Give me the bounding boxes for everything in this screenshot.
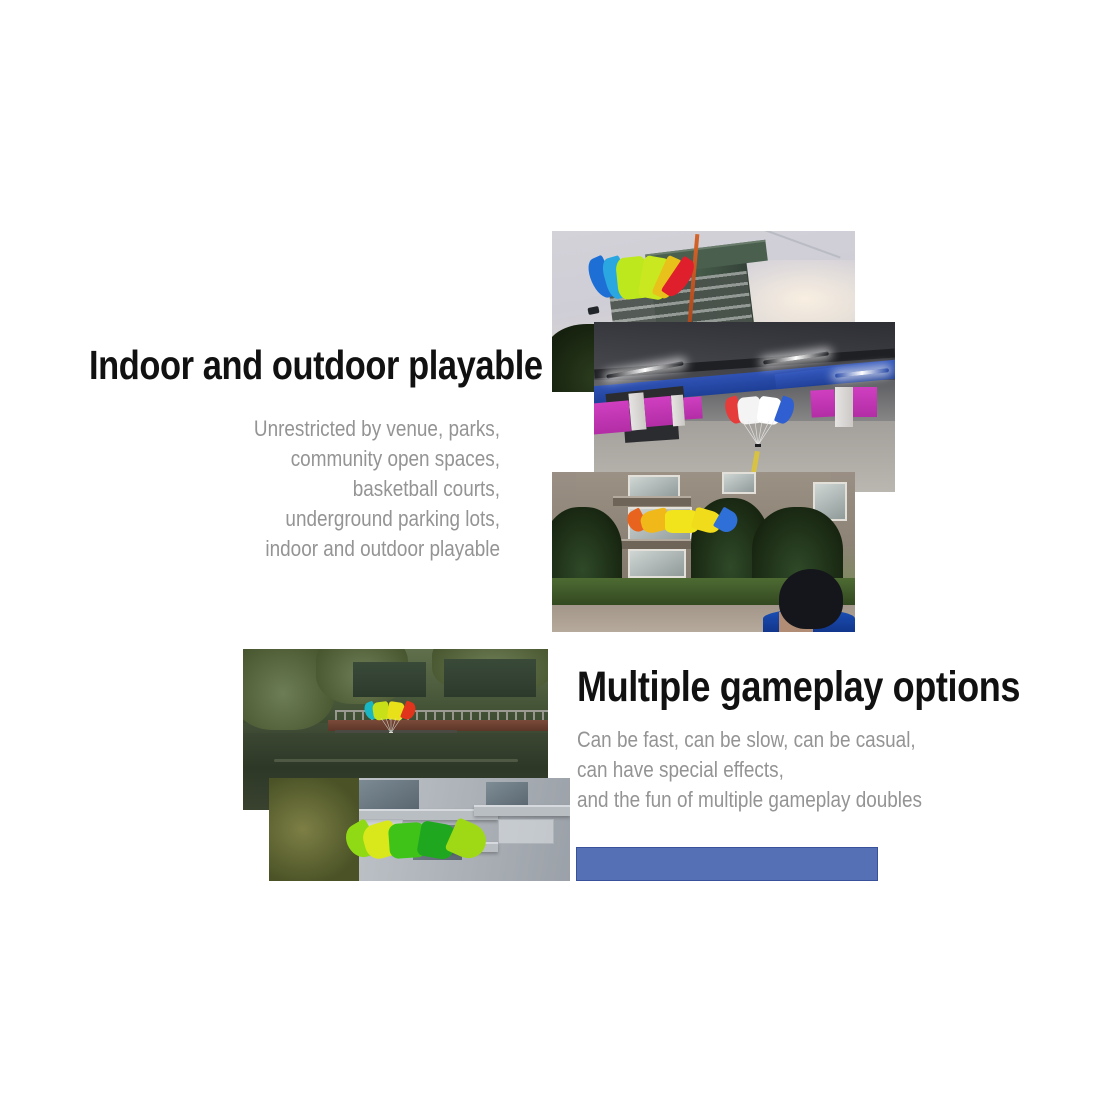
window-lower [628, 549, 687, 579]
window-bay-upper [353, 780, 419, 811]
body-line: Can be fast, can be slow, can be casual, [577, 725, 922, 755]
paraglider-canopy [591, 257, 691, 299]
magenta-panel-4 [810, 389, 835, 417]
magenta-panel-3 [684, 396, 704, 419]
magenta-panel-5 [853, 387, 877, 418]
body-line: can have special effects, [577, 755, 922, 785]
body-indoor-and-outdoor-playable: Unrestricted by venue, parks, community … [70, 414, 500, 564]
paraglider-canopy [347, 823, 485, 858]
photo-paraglider-over-residential-courtyard [552, 472, 855, 632]
photo-paraglider-in-underground-parking-garage [594, 322, 895, 492]
pillar-3 [835, 387, 853, 428]
body-line: underground parking lots, [70, 504, 500, 534]
green-barrier-wall-right [444, 659, 536, 698]
photo-paraglider-beside-gray-apartment-building [269, 778, 570, 881]
paraglider-canopy [628, 510, 737, 532]
canopy-suspension-lines [741, 421, 775, 447]
body-line: community open spaces, [70, 444, 500, 474]
body-line: indoor and outdoor playable [70, 534, 500, 564]
magenta-panel-1 [594, 400, 631, 434]
heading-indoor-and-outdoor-playable: Indoor and outdoor playable [89, 345, 543, 386]
balcony-middle [613, 539, 692, 549]
body-multiple-gameplay-options: Can be fast, can be slow, can be casual,… [577, 725, 922, 815]
paraglider-canopy [365, 702, 417, 720]
window-upper-right [722, 472, 756, 494]
body-line: Unrestricted by venue, parks, [70, 414, 500, 444]
balcony-railing-right [498, 819, 554, 844]
pilot-figure [588, 306, 600, 315]
body-line: basketball courts, [70, 474, 500, 504]
balcony-slab-right [474, 805, 570, 816]
heading-multiple-gameplay-options: Multiple gameplay options [577, 666, 1020, 709]
magenta-panel-2 [644, 396, 673, 427]
green-barrier-wall-left [353, 662, 426, 697]
balcony-upper [613, 496, 692, 506]
body-line: and the fun of multiple gameplay doubles [577, 785, 922, 815]
observer-head [779, 569, 843, 629]
marketing-collage: Indoor and outdoor playable Unrestricted… [0, 0, 1100, 1100]
water-reflection-1 [274, 759, 518, 762]
tree-foliage [269, 778, 359, 881]
accent-bar [576, 847, 878, 881]
